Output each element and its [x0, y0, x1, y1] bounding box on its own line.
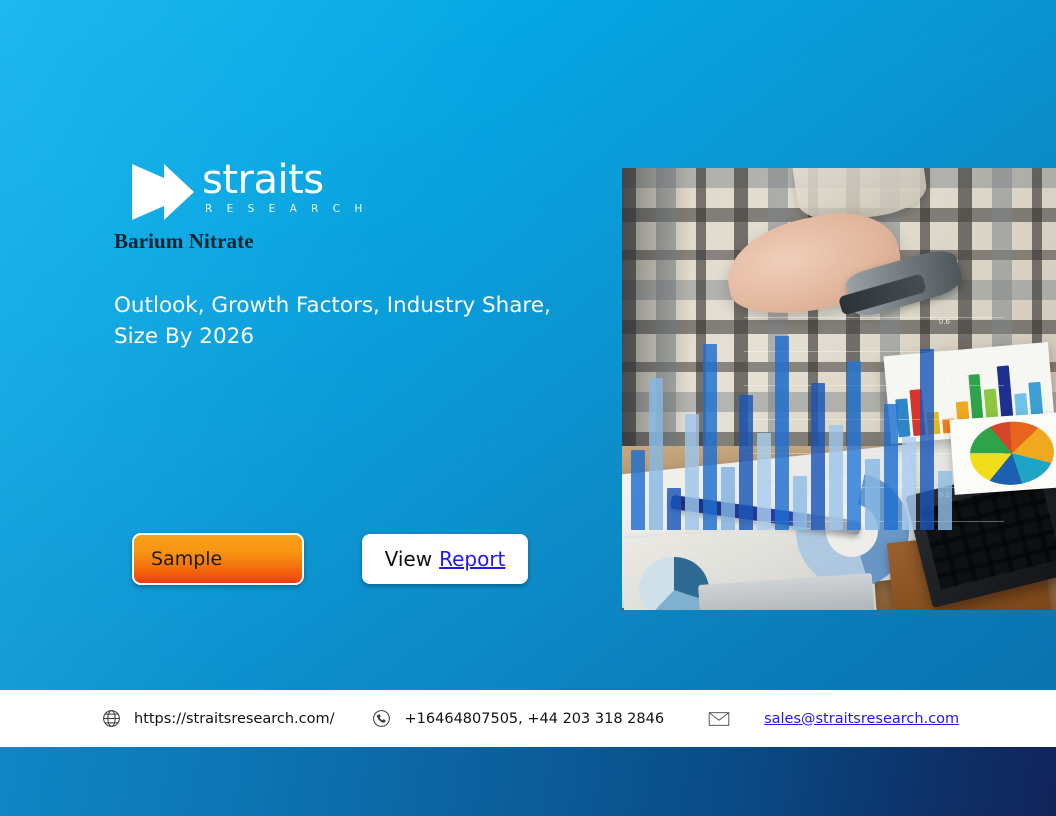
- axis-tick-3: 0.1: [939, 491, 950, 499]
- left-content-column: straits R E S E A R C H Barium Nitrate O…: [0, 0, 622, 690]
- envelope-icon: [708, 708, 730, 730]
- printed-bar: [926, 412, 940, 435]
- hero-photo: 0.6 0.4 0.2 0.1: [622, 168, 1056, 610]
- shirt-shadow: [622, 168, 691, 446]
- axis-tick-0: 0.6: [939, 318, 950, 326]
- contact-items: https://straitsresearch.com/ +1646480750…: [100, 708, 959, 730]
- product-name: Barium Nitrate: [114, 229, 254, 254]
- logo-wordmark: straits: [202, 160, 368, 200]
- photo-scene: 0.6 0.4 0.2 0.1: [622, 168, 1056, 610]
- view-report-button[interactable]: View Report: [362, 534, 528, 584]
- phone-text: +16464807505, +44 203 318 2846: [405, 711, 665, 727]
- axis-tick-1: 0.4: [939, 376, 950, 384]
- footer-email[interactable]: sales@straitsresearch.com: [708, 708, 959, 730]
- report-link[interactable]: Report: [439, 547, 505, 571]
- arrow-play-icon: [130, 162, 196, 222]
- printed-bar: [909, 390, 925, 437]
- axis-tick-2: 0.2: [939, 433, 950, 441]
- footer-phone[interactable]: +16464807505, +44 203 318 2846: [371, 708, 665, 730]
- logo-text-group: straits R E S E A R C H: [202, 160, 368, 216]
- presentation-slide: straits R E S E A R C H Barium Nitrate O…: [0, 0, 1056, 816]
- sample-button[interactable]: Sample: [132, 533, 304, 585]
- footer-website[interactable]: https://straitsresearch.com/: [100, 708, 335, 730]
- cta-button-row: Sample View Report: [132, 533, 528, 585]
- colored-pie: [968, 418, 1056, 487]
- website-text: https://straitsresearch.com/: [134, 711, 335, 727]
- brand-logo[interactable]: straits R E S E A R C H: [130, 160, 368, 222]
- page-title: Outlook, Growth Factors, Industry Share,…: [114, 290, 594, 352]
- printed-bar: [895, 399, 910, 438]
- phone-circle-icon: [371, 708, 393, 730]
- globe-icon: [100, 708, 122, 730]
- view-button-label: View: [385, 547, 432, 571]
- footer-gradient-bar: [0, 747, 1056, 816]
- email-link[interactable]: sales@straitsresearch.com: [764, 711, 959, 727]
- logo-tagline: R E S E A R C H: [205, 202, 368, 216]
- contact-footer: https://straitsresearch.com/ +1646480750…: [0, 690, 1056, 747]
- printed-pie-chart-card: [949, 412, 1056, 495]
- sample-button-label: Sample: [151, 548, 222, 570]
